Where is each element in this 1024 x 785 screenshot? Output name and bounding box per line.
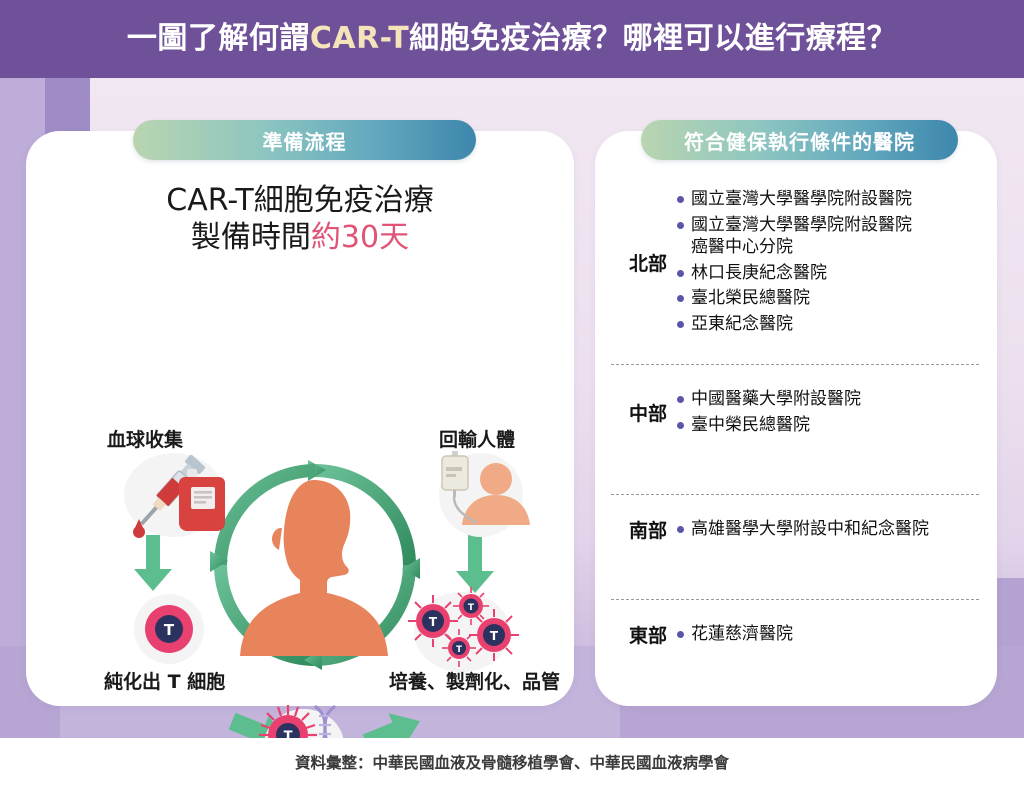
- region-name-north: 北部: [595, 186, 677, 339]
- list-item: 中國醫藥大學附設醫院: [677, 388, 997, 411]
- svg-text:T: T: [490, 629, 499, 643]
- region-central: 中部 中國醫藥大學附設醫院 臺中榮民總醫院: [595, 386, 997, 439]
- bullet-icon: [677, 526, 684, 533]
- region-north: 北部 國立臺灣大學醫學院附設醫院 國立臺灣大學醫學院附設醫院 癌醫中心分院 林口…: [595, 186, 997, 339]
- hospital-name: 中國醫藥大學附設醫院: [691, 388, 861, 411]
- bullet-icon: [677, 196, 684, 203]
- region-name-east: 東部: [595, 621, 677, 649]
- list-item: 國立臺灣大學醫學院附設醫院: [677, 188, 997, 211]
- hospital-name: 國立臺灣大學醫學院附設醫院 癌醫中心分院: [691, 214, 912, 259]
- list-item: 臺北榮民總醫院: [677, 287, 997, 310]
- eligible-hospitals-banner: 符合健保執行條件的醫院: [641, 120, 958, 160]
- region-name-south: 南部: [595, 516, 677, 544]
- flow-heading-line2: 製備時間約30天: [26, 220, 574, 257]
- page-title-after: 細胞免疫治療？哪裡可以進行療程？: [409, 21, 897, 56]
- preparation-flow-banner-label: 準備流程: [263, 126, 347, 155]
- iv-bag-patient-icon: [434, 449, 534, 541]
- bullet-icon: [677, 631, 684, 638]
- region-name-central: 中部: [595, 386, 677, 439]
- list-item: 林口長庚紀念醫院: [677, 262, 997, 285]
- bullet-icon: [677, 270, 684, 277]
- region-hospital-list-north: 國立臺灣大學醫學院附設醫院 國立臺灣大學醫學院附設醫院 癌醫中心分院 林口長庚紀…: [677, 186, 997, 339]
- flow-heading-prefix: 製備時間: [191, 220, 311, 255]
- page-title: 一圖了解何謂CAR-T細胞免疫治療？哪裡可以進行療程？: [127, 24, 897, 54]
- bullet-icon: [677, 321, 684, 328]
- step-label-purify-t-cell: 純化出 T 細胞: [104, 667, 225, 694]
- list-item: 高雄醫學大學附設中和紀念醫院: [677, 518, 997, 541]
- step-label-culture-qc: 培養、製劑化、品管: [389, 667, 560, 694]
- hospital-name: 花蓮慈濟醫院: [691, 623, 793, 646]
- syringe-blood-bag-icon: [121, 449, 236, 545]
- step-label-blood-collection: 血球收集: [107, 425, 183, 452]
- hospital-name: 林口長庚紀念醫院: [691, 262, 827, 285]
- hospital-name-line2: 癌醫中心分院: [691, 236, 912, 259]
- hospital-regions-list: 北部 國立臺灣大學醫學院附設醫院 國立臺灣大學醫學院附設醫院 癌醫中心分院 林口…: [595, 131, 997, 706]
- flow-heading-line1: CAR-T細胞免疫治療: [26, 183, 574, 220]
- region-hospital-list-central: 中國醫藥大學附設醫院 臺中榮民總醫院: [677, 386, 997, 439]
- list-item: 國立臺灣大學醫學院附設醫院 癌醫中心分院: [677, 214, 997, 259]
- region-south: 南部 高雄醫學大學附設中和紀念醫院: [595, 516, 997, 544]
- hospital-name-line1: 國立臺灣大學醫學院附設醫院: [691, 215, 912, 235]
- svg-text:T: T: [429, 615, 438, 629]
- eligible-hospitals-banner-label: 符合健保執行條件的醫院: [684, 126, 915, 155]
- hospital-name: 高雄醫學大學附設中和紀念醫院: [691, 518, 929, 541]
- infographic-page: 一圖了解何謂CAR-T細胞免疫治療？哪裡可以進行療程？ CAR-T細胞免疫治療 …: [0, 0, 1024, 785]
- region-hospital-list-south: 高雄醫學大學附設中和紀念醫院: [677, 516, 997, 544]
- region-divider: [611, 364, 979, 365]
- list-item: 臺中榮民總醫院: [677, 414, 997, 437]
- region-divider: [611, 494, 979, 495]
- step-label-infusion: 回輸人體: [439, 425, 515, 452]
- svg-text:T: T: [164, 621, 175, 639]
- hospital-name: 臺中榮民總醫院: [691, 414, 810, 437]
- source-credit: 資料彙整：中華民國血液及骨髓移植學會、中華民國血液病學會: [295, 751, 729, 773]
- flow-heading: CAR-T細胞免疫治療 製備時間約30天: [26, 183, 574, 256]
- page-title-before: 一圖了解何謂: [127, 21, 310, 56]
- list-item: 亞東紀念醫院: [677, 313, 997, 336]
- svg-text:T: T: [456, 645, 462, 655]
- bullet-icon: [677, 422, 684, 429]
- list-item: 花蓮慈濟醫院: [677, 623, 997, 646]
- t-cell-icon: T: [134, 594, 204, 664]
- hospital-name: 臺北榮民總醫院: [691, 287, 810, 310]
- bullet-icon: [677, 295, 684, 302]
- region-east: 東部 花蓮慈濟醫院: [595, 621, 997, 649]
- preparation-flow-banner: 準備流程: [133, 120, 476, 160]
- human-bust-silhouette-icon: [208, 458, 422, 672]
- flow-heading-days: 約30天: [311, 220, 409, 255]
- preparation-flow-card: CAR-T細胞免疫治療 製備時間約30天: [26, 131, 574, 706]
- bullet-icon: [677, 396, 684, 403]
- hospital-name: 亞東紀念醫院: [691, 313, 793, 336]
- page-footer: 資料彙整：中華民國血液及骨髓移植學會、中華民國血液病學會: [0, 738, 1024, 785]
- svg-text:T: T: [468, 603, 475, 613]
- region-divider: [611, 599, 979, 600]
- hospital-name: 國立臺灣大學醫學院附設醫院: [691, 188, 912, 211]
- bullet-icon: [677, 222, 684, 229]
- page-header: 一圖了解何謂CAR-T細胞免疫治療？哪裡可以進行療程？: [0, 0, 1024, 78]
- region-hospital-list-east: 花蓮慈濟醫院: [677, 621, 997, 649]
- page-title-accent: CAR-T: [310, 21, 409, 56]
- t-cell-cluster-icon: T T: [401, 583, 527, 679]
